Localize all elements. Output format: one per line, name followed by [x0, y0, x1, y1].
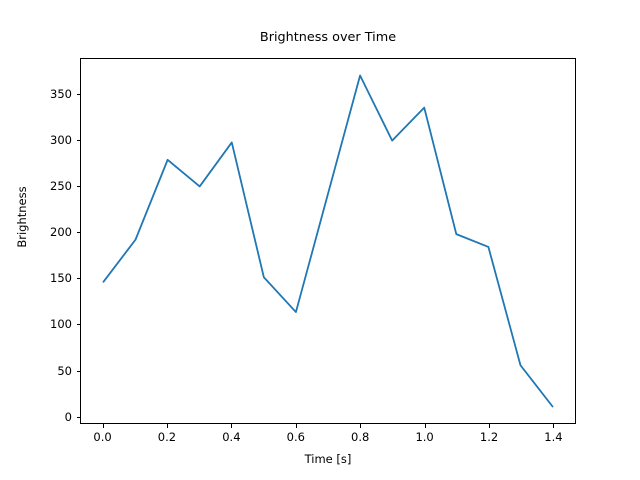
x-tick-label: 0.4	[201, 430, 261, 444]
y-tick	[77, 371, 81, 372]
x-tick	[296, 424, 297, 428]
y-tick	[77, 94, 81, 95]
x-tick-label: 0.6	[266, 430, 326, 444]
x-axis-label: Time [s]	[80, 452, 576, 466]
y-tick	[77, 232, 81, 233]
y-tick-label: 50	[16, 363, 72, 379]
y-axis-label: Brightness	[15, 167, 29, 267]
plot-area	[80, 58, 576, 424]
chart-figure: Brightness over Time 0.00.20.40.60.81.01…	[0, 0, 640, 480]
x-tick	[553, 424, 554, 428]
y-tick-label: 350	[16, 86, 72, 102]
y-tick	[77, 140, 81, 141]
x-tick	[360, 424, 361, 428]
x-tick	[167, 424, 168, 428]
y-tick-label: 100	[16, 316, 72, 332]
y-tick	[77, 324, 81, 325]
line-series-brightness	[81, 59, 575, 423]
y-tick	[77, 417, 81, 418]
chart-title: Brightness over Time	[80, 30, 576, 46]
y-tick	[77, 278, 81, 279]
y-tick-label: 0	[16, 409, 72, 425]
x-tick-label: 1.4	[523, 430, 583, 444]
x-tick	[231, 424, 232, 428]
x-tick-label: 1.0	[395, 430, 455, 444]
x-tick	[425, 424, 426, 428]
y-tick-label: 150	[16, 270, 72, 286]
x-tick-label: 0.0	[73, 430, 133, 444]
x-tick-label: 0.8	[330, 430, 390, 444]
x-tick-label: 1.2	[459, 430, 519, 444]
y-tick-label: 300	[16, 132, 72, 148]
x-tick	[103, 424, 104, 428]
x-tick-label: 0.2	[137, 430, 197, 444]
x-tick	[489, 424, 490, 428]
y-tick	[77, 186, 81, 187]
